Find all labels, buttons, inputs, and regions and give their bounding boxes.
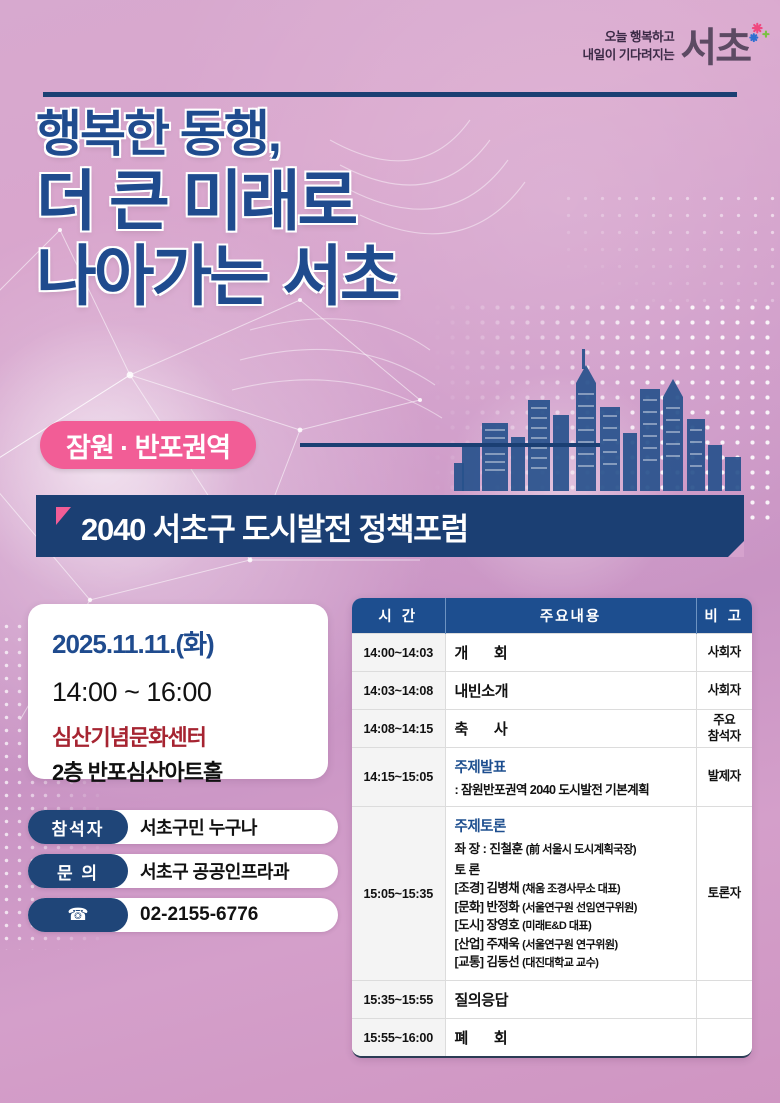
- row-title2: 사: [494, 721, 507, 738]
- row-note: 주요 참석자: [696, 710, 752, 748]
- headline-line-3: 나아가는 서초: [36, 240, 556, 314]
- attendees-label-tag: 참석자: [28, 810, 128, 844]
- region-badge-label: 잠원 · 반포권역: [66, 426, 230, 465]
- table-row: 14:03~14:08 내빈소개 사회자: [352, 672, 752, 710]
- seocho-logo: 오늘 행복하고 내일이 기다려지는 서초: [583, 28, 750, 68]
- chair-role: (前 서울시 도시계획국장): [526, 844, 637, 856]
- panelist-name: [교통] 김동선: [455, 955, 520, 969]
- triangle-marker-icon: [56, 507, 71, 525]
- row-note: 토론자: [696, 807, 752, 981]
- agenda-table-card: 시 간 주요내용 비 고 14:00~14:03 개회 사회자 14:03: [352, 598, 752, 1058]
- logo-wordmark: 서초: [680, 28, 750, 68]
- table-row: 14:08~14:15 축사 주요 참석자: [352, 710, 752, 748]
- chair-label: 좌 장 : 진철훈: [455, 842, 523, 856]
- headline-line-2: 더 큰 미래로: [36, 165, 556, 239]
- contact-row-phone[interactable]: ☎ 02-2155-6776: [28, 898, 338, 932]
- row-title2: 회: [494, 645, 507, 662]
- panelist-role: (서울연구원 선임연구위원): [522, 902, 637, 914]
- row-main: 축사: [445, 710, 696, 748]
- row-heading: 주제발표: [455, 756, 687, 777]
- row-main: 질의응답: [445, 981, 696, 1019]
- panelist-role: (채움 조경사무소 대표): [522, 883, 620, 895]
- phone-number[interactable]: 02-2155-6776: [140, 898, 258, 932]
- city-skyline-illustration: [454, 345, 754, 495]
- row-time: 15:55~16:00: [352, 1019, 445, 1057]
- event-venue: 심산기념문화센터: [52, 720, 304, 752]
- attendees-value: 서초구민 누구나: [140, 810, 257, 844]
- row-heading: 주제토론: [455, 815, 687, 836]
- event-date: 2025.11.11.(화): [52, 624, 304, 661]
- row-note: 사회자: [696, 634, 752, 672]
- row-time: 14:00~14:03: [352, 634, 445, 672]
- forum-title: 2040 서초구 도시발전 정책포럼: [81, 504, 468, 549]
- agenda-table: 시 간 주요내용 비 고 14:00~14:03 개회 사회자 14:03: [352, 598, 752, 1056]
- poster-canvas: 오늘 행복하고 내일이 기다려지는 서초 행복한 동행, 더 큰 미래로 나아가…: [0, 0, 780, 1103]
- panelist-name: [산업] 주재욱: [455, 937, 520, 951]
- list-item: [문화] 반정화 (서울연구원 선임연구위원): [455, 898, 687, 917]
- panelist-role: (대진대학교 교수): [522, 957, 598, 969]
- halftone-dots-upper-right: [560, 190, 780, 310]
- event-info-card: 2025.11.11.(화) 14:00 ~ 16:00 심산기념문화센터 2층…: [28, 604, 328, 779]
- row-note: 사회자: [696, 672, 752, 710]
- table-row: 15:05~15:35 주제토론 좌 장 : 진철훈 (前 서울시 도시계획국장…: [352, 807, 752, 981]
- row-main: 개회: [445, 634, 696, 672]
- contact-row-attendees: 참석자 서초구민 누구나: [28, 810, 338, 844]
- panelist-name: [도시] 장영호: [455, 918, 520, 932]
- logo-wordmark-text: 서초: [680, 26, 750, 70]
- event-time: 14:00 ~ 16:00: [52, 677, 304, 708]
- logo-slogan-line1: 오늘 행복하고: [583, 28, 675, 46]
- agenda-header-row: 시 간 주요내용 비 고: [352, 598, 752, 634]
- list-item: [교통] 김동선 (대진대학교 교수): [455, 953, 687, 972]
- header-note: 비 고: [696, 598, 752, 634]
- inquiry-value: 서초구 공공인프라과: [140, 854, 289, 888]
- sparkle-icon: [746, 22, 772, 48]
- table-row: 15:35~15:55 질의응답: [352, 981, 752, 1019]
- region-badge: 잠원 · 반포권역: [40, 421, 256, 469]
- panelist-list: [조경] 김병채 (채움 조경사무소 대표) [문화] 반정화 (서울연구원 선…: [455, 879, 687, 972]
- inquiry-label-tag: 문 의: [28, 854, 128, 888]
- row-title: 내빈소개: [455, 680, 687, 701]
- list-item: [산업] 주재욱 (서울연구원 연구위원): [455, 935, 687, 954]
- row-note: 발제자: [696, 748, 752, 807]
- table-row: 14:00~14:03 개회 사회자: [352, 634, 752, 672]
- row-time: 14:08~14:15: [352, 710, 445, 748]
- row-main: 주제발표 : 잠원반포권역 2040 도시발전 기본계획: [445, 748, 696, 807]
- headline-line-1: 행복한 동행,: [36, 108, 556, 161]
- forum-title-banner: 2040 서초구 도시발전 정책포럼: [36, 495, 744, 557]
- row-time: 14:15~15:05: [352, 748, 445, 807]
- phone-icon: ☎: [28, 898, 128, 932]
- contact-block: 참석자 서초구민 누구나 문 의 서초구 공공인프라과 ☎ 02-2155-67…: [28, 810, 338, 942]
- row-time: 15:05~15:35: [352, 807, 445, 981]
- event-hall: 2층 반포심산아트홀: [52, 755, 304, 787]
- header-main: 주요내용: [445, 598, 696, 634]
- row-title2: 회: [494, 1030, 507, 1047]
- row-subtitle: : 잠원반포권역 2040 도시발전 기본계획: [455, 779, 687, 798]
- row-time: 15:35~15:55: [352, 981, 445, 1019]
- logo-slogan: 오늘 행복하고 내일이 기다려지는: [583, 28, 675, 68]
- row-title: 개: [455, 645, 468, 662]
- headline-block: 행복한 동행, 더 큰 미래로 나아가는 서초: [36, 108, 556, 314]
- row-title: 질의응답: [455, 989, 687, 1010]
- row-note: [696, 1019, 752, 1057]
- row-main: 내빈소개: [445, 672, 696, 710]
- panelist-name: [조경] 김병채: [455, 881, 520, 895]
- badge-rule: [300, 443, 600, 447]
- contact-row-inquiry: 문 의 서초구 공공인프라과: [28, 854, 338, 888]
- header-time: 시 간: [352, 598, 445, 634]
- list-item: [조경] 김병채 (채움 조경사무소 대표): [455, 879, 687, 898]
- row-note: [696, 981, 752, 1019]
- logo-slogan-line2: 내일이 기다려지는: [583, 46, 675, 64]
- panelist-role: (미래E&D 대표): [522, 920, 591, 932]
- table-row: 15:55~16:00 폐회: [352, 1019, 752, 1057]
- header-rule: [43, 92, 737, 97]
- panelist-role: (서울연구원 연구위원): [522, 939, 617, 951]
- row-main: 주제토론 좌 장 : 진철훈 (前 서울시 도시계획국장) 토 론 [조경] 김…: [445, 807, 696, 981]
- row-main: 폐회: [445, 1019, 696, 1057]
- row-title: 축: [455, 721, 468, 738]
- discussion-label: 토 론: [455, 859, 687, 878]
- row-title: 폐: [455, 1030, 468, 1047]
- table-row: 14:15~15:05 주제발표 : 잠원반포권역 2040 도시발전 기본계획…: [352, 748, 752, 807]
- row-time: 14:03~14:08: [352, 672, 445, 710]
- list-item: [도시] 장영호 (미래E&D 대표): [455, 916, 687, 935]
- panelist-name: [문화] 반정화: [455, 900, 520, 914]
